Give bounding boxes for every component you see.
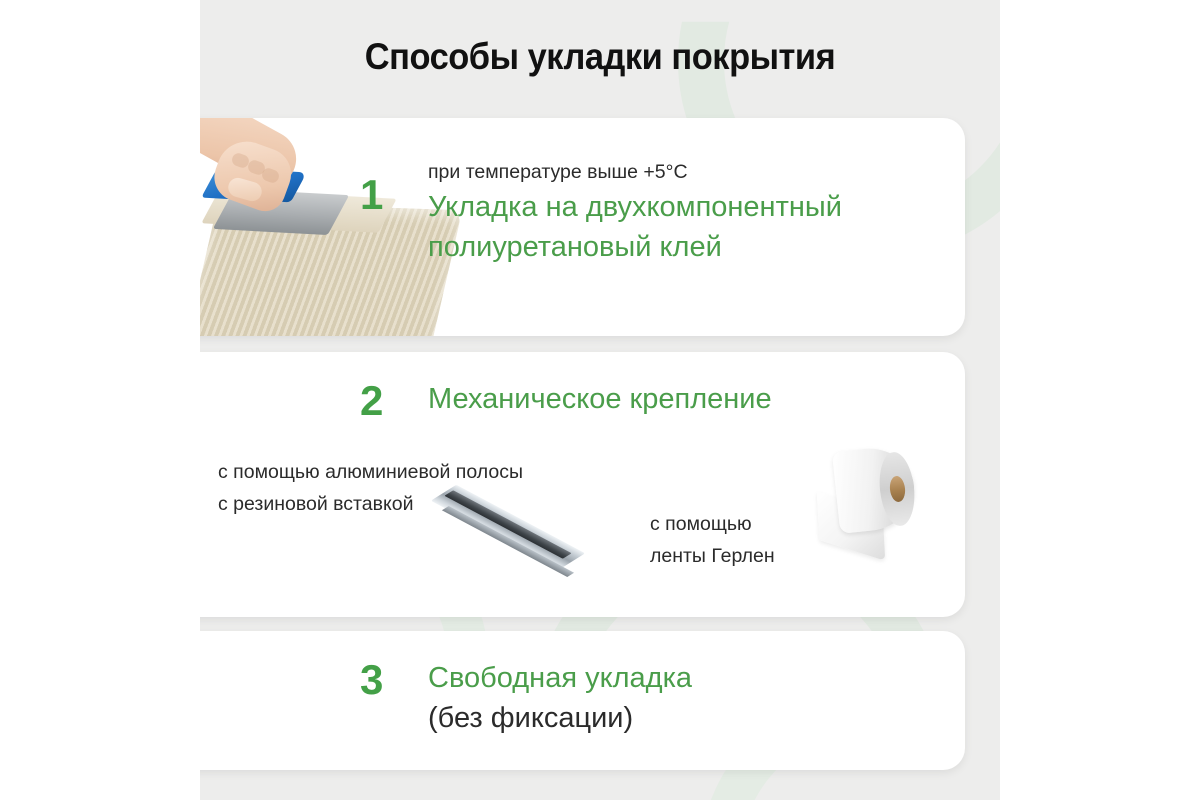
step-3-heading-dark: (без фиксации) xyxy=(428,699,633,737)
infographic-canvas: Способы укладки покрытия 1 при температу… xyxy=(200,0,1000,800)
step-2-option-right-line-2: ленты Герлен xyxy=(650,544,775,568)
step-card-1: 1 при температуре выше +5°C Укладка на д… xyxy=(200,118,965,336)
step-1-caption: при температуре выше +5°C xyxy=(428,160,688,184)
step-2-heading: Механическое крепление xyxy=(428,380,772,418)
infographic-stage: Способы укладки покрытия 1 при температу… xyxy=(0,0,1200,800)
aluminium-strip-illustration xyxy=(435,484,585,584)
gerlen-tape-roll-illustration xyxy=(818,448,938,573)
step-2-option-left-line-2: с резиновой вставкой xyxy=(218,492,413,516)
page-title: Способы укладки покрытия xyxy=(228,36,972,78)
rubber-insert-icon xyxy=(444,490,571,558)
step-2-option-right-line-1: с помощью xyxy=(650,512,752,536)
step-number-2: 2 xyxy=(360,380,383,422)
step-1-heading-line-1: Укладка на двухкомпонентный xyxy=(428,188,842,226)
step-3-heading-green: Свободная укладка xyxy=(428,659,692,697)
step-card-2: 2 Механическое крепление с помощью алюми… xyxy=(200,352,965,617)
step-1-heading-line-2: полиуретановый клей xyxy=(428,228,722,266)
step-card-3: 3 Свободная укладка (без фиксации) xyxy=(200,631,965,770)
step-number-3: 3 xyxy=(360,659,383,701)
trowel-adhesive-illustration xyxy=(200,118,470,336)
step-2-option-left-line-1: с помощью алюминиевой полосы xyxy=(218,460,523,484)
step-number-1: 1 xyxy=(360,174,383,216)
